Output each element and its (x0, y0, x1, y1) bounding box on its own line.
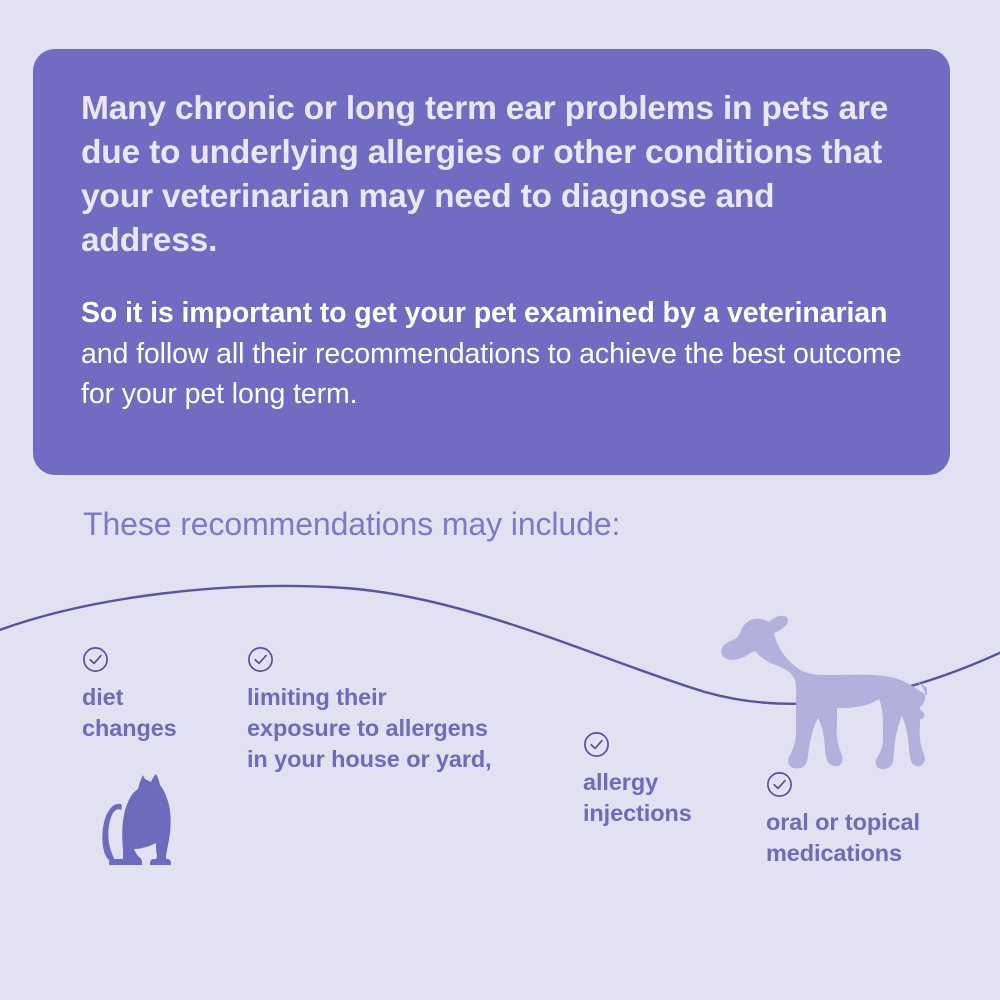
callout-card: Many chronic or long term ear problems i… (33, 49, 950, 475)
check-circle-icon (247, 646, 274, 673)
recommendation-item-allergy-injections: allergy injections (583, 731, 773, 829)
check-circle-icon (583, 731, 610, 758)
recommendation-label: allergy injections (583, 767, 773, 829)
recommendation-label: limiting their exposure to allergens in … (247, 682, 537, 775)
callout-body-rest: and follow all their recommendations to … (81, 338, 902, 411)
recommendation-label: diet changes (82, 682, 232, 744)
infographic-canvas: Many chronic or long term ear problems i… (0, 0, 1000, 1000)
check-circle-icon (82, 646, 109, 673)
recommendation-item-oral-topical-medications: oral or topical medications (766, 771, 986, 869)
check-circle-icon (766, 771, 793, 798)
callout-body-emphasis: So it is important to get your pet exami… (81, 297, 887, 329)
callout-heading: Many chronic or long term ear problems i… (81, 87, 891, 263)
recommendation-item-diet-changes: diet changes (82, 646, 232, 744)
section-heading: These recommendations may include: (83, 506, 620, 543)
cat-silhouette-icon (97, 773, 177, 865)
callout-body: So it is important to get your pet exami… (81, 293, 904, 415)
recommendation-item-limit-allergens: limiting their exposure to allergens in … (247, 646, 537, 775)
recommendation-label: oral or topical medications (766, 807, 986, 869)
